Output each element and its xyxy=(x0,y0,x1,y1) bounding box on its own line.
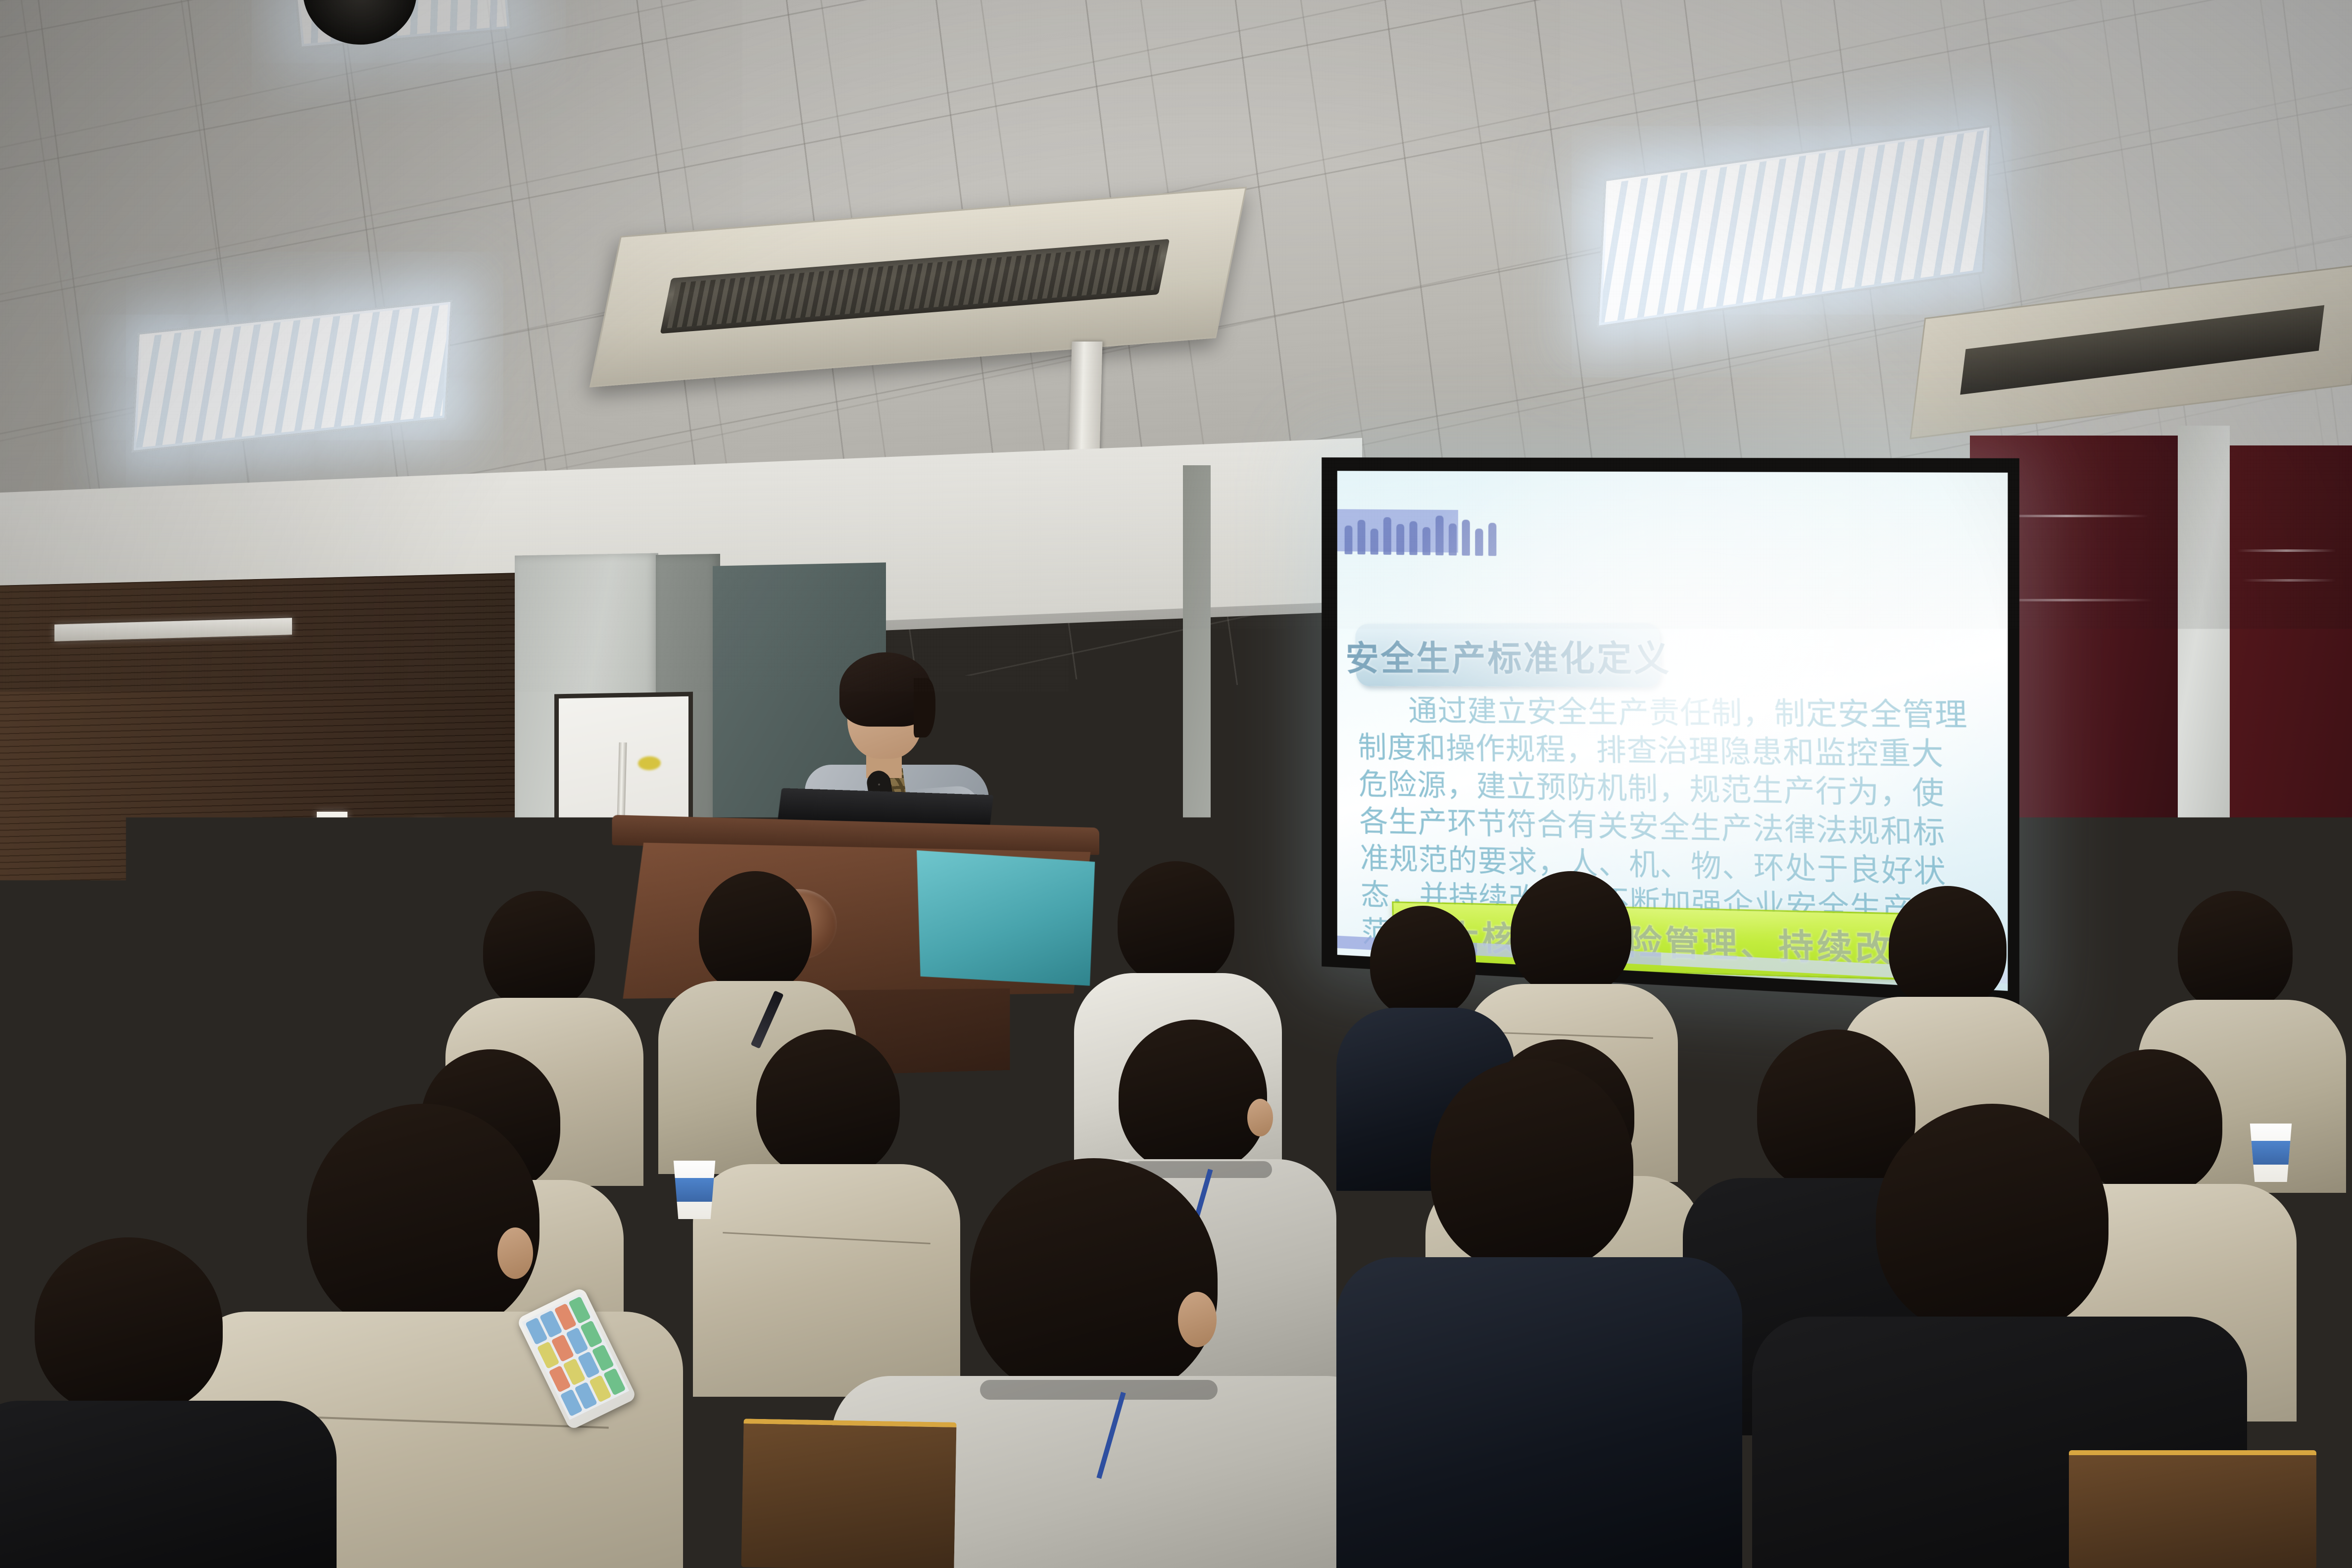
wall-pillar-center xyxy=(1183,465,1211,832)
chair-left xyxy=(741,1419,956,1568)
paper-cup-left xyxy=(671,1161,718,1219)
paper-cup-right xyxy=(2247,1124,2295,1182)
chair-far-right xyxy=(2069,1450,2316,1568)
photo-scene: 安全生产标准化定义 通过建立安全生产责任制，制定安全管理制度和操作规程，排查治理… xyxy=(0,0,2352,1568)
audience-member-front-5 xyxy=(0,1237,337,1568)
podium-accent-panel xyxy=(917,850,1095,987)
chair-right xyxy=(1652,1418,1961,1568)
wall-light-strip-vertical-1 xyxy=(317,812,347,1069)
wall-light-strip-vertical-2 xyxy=(413,822,444,1069)
slide-title-box: 安全生产标准化定义 xyxy=(1355,623,1661,687)
slide-people-silhouettes-icon xyxy=(1345,508,1571,557)
presenter-hair xyxy=(839,652,931,727)
slide-title: 安全生产标准化定义 xyxy=(1345,629,1671,681)
